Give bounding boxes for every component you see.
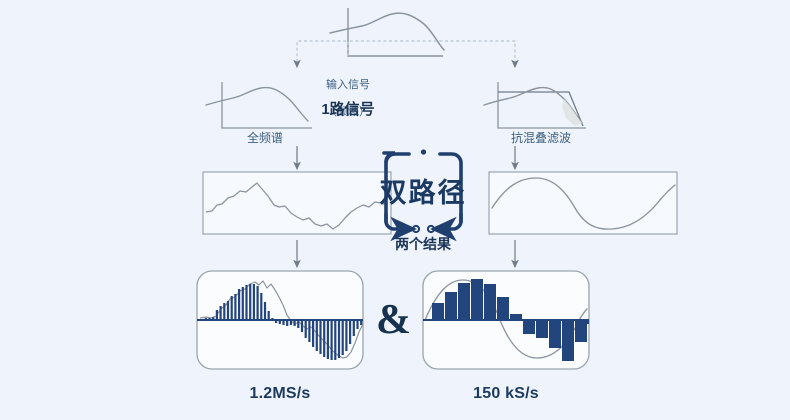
diagram-graphics bbox=[0, 0, 790, 420]
anti-alias-filter-caption: 抗混叠滤波 bbox=[476, 131, 606, 146]
high-rate-sampled-chart bbox=[197, 271, 363, 369]
low-rate-label: 150 kS/s bbox=[416, 384, 596, 404]
low-rate-sampled-chart bbox=[423, 271, 591, 369]
two-results-subtitle: 两个结果 bbox=[343, 236, 503, 254]
full-spectrum-caption: 全频谱 bbox=[205, 131, 325, 146]
diagram-canvas: 输入信号 （频域） 1路信号 全频谱 抗混叠滤波 双路径 两个结果 & 1.2M… bbox=[0, 0, 790, 420]
input-signal-caption-line1: 输入信号 bbox=[288, 79, 408, 93]
mid-connectors bbox=[297, 146, 515, 166]
signal-count-label: 1路信号 bbox=[278, 101, 418, 120]
ampersand-separator: & bbox=[376, 299, 411, 341]
input-signal-caption: 输入信号 （频域） bbox=[288, 65, 408, 134]
high-rate-label: 1.2MS/s bbox=[190, 384, 370, 404]
input-signal-spectrum bbox=[330, 8, 444, 56]
dual-path-title: 双路径 bbox=[343, 171, 503, 210]
anti-alias-filter-graph bbox=[484, 82, 586, 128]
filtered-sine-waveform bbox=[489, 172, 677, 234]
branch-connectors bbox=[297, 41, 515, 64]
